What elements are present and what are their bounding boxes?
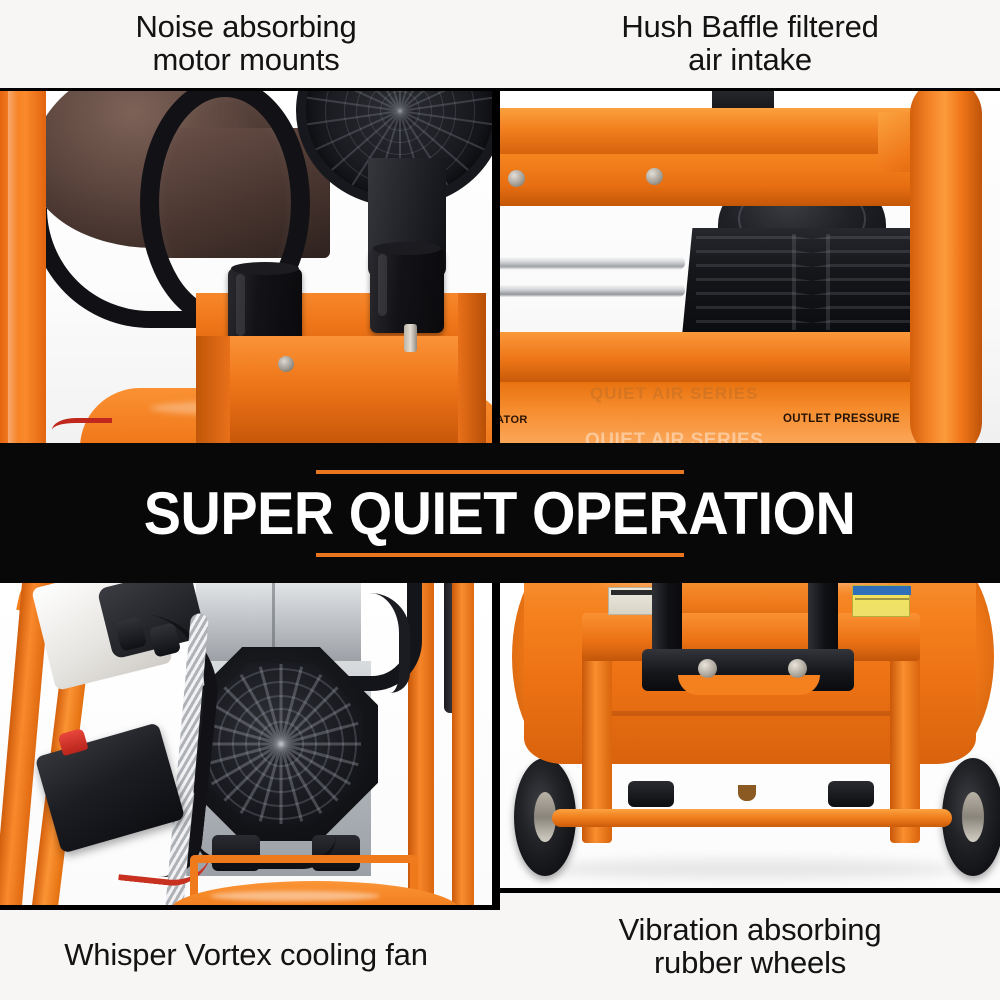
fan-ring [205,668,357,820]
caption-tl-line1: Noise absorbing [135,11,356,44]
bracket-bolt-left [698,659,717,678]
caption-noise-absorbing-motor-mounts: Noise absorbing motor mounts [0,0,492,88]
bracket-bolt [404,324,417,352]
wire-red [52,418,112,443]
hush-baffle-intake-filter [682,228,942,336]
baffle-centre-rib [792,234,796,330]
frame-post-highlight [8,88,18,443]
hose-right-lower [348,593,410,693]
baffle-fin [696,306,928,309]
caption-whisper-vortex-cooling-fan: Whisper Vortex cooling fan [0,910,492,1000]
divider-horizontal-top [0,88,1000,91]
tank-text-series-embossed: QUIET AIR SERIES [590,384,758,404]
handle-bracket-notch [678,675,820,695]
warning-label-right-divider [855,598,909,600]
divider-vertical-top [492,88,500,443]
tank-drain-valve [738,785,756,801]
frame-rail-bottom [500,332,930,382]
rubber-motor-mount-right [370,248,444,333]
tank-text-quiet-air-series: QUIET AIR SERIES [585,430,763,443]
mount-bracket-leg-left [196,336,230,443]
rubber-foot-left [628,781,674,807]
divider-bottom-left-edge [0,905,492,910]
frame-tube-right [910,88,982,443]
caption-hush-baffle-air-intake: Hush Baffle filtered air intake [500,0,1000,88]
whisper-vortex-cooling-fan-photo [0,583,492,910]
tank-text-outlet-pressure: OUTLET PRESSURE [783,413,900,425]
product-feature-collage: Noise absorbing motor mounts Hush Baffle… [0,0,1000,1000]
tank-rail-upper [500,256,685,270]
caption-tr-line2: air intake [688,44,812,77]
super-quiet-operation-banner: SUPER QUIET OPERATION [0,443,1000,583]
ground-shadow [540,859,960,879]
mount-bracket-face [196,336,486,443]
rubber-foot-right [828,781,874,807]
noise-absorbing-motor-mounts-photo [0,88,492,443]
bracket-screw [278,356,294,372]
frame-rail-top-lower [500,154,930,206]
baffle-fin [696,320,928,323]
mount-bracket-leg-right [458,293,486,443]
baffle-fin [696,278,928,281]
hush-baffle-air-intake-photo: QUIET AIR SERIES ATOR OUTLET PRESSURE QU… [500,88,1000,443]
tank-rail-lower [500,284,685,297]
frame-tube-right-outer [452,583,474,910]
baffle-centre-rib [826,234,830,330]
warning-label-right-header [853,586,911,595]
frame-post-left [0,88,46,443]
warning-label-right [852,585,910,617]
caption-tl-line2: motor mounts [152,44,339,77]
frame-rail-top [500,108,930,154]
vibration-absorbing-rubber-wheels-photo [500,583,1000,893]
banner-rule-top [316,470,684,474]
wheel-axle-bar [552,809,952,827]
tank-weld-seam [596,711,912,716]
baffle-fin [696,292,928,295]
frame-screw-right [646,168,663,185]
caption-br-line1: Vibration absorbing [619,914,882,947]
caption-br-line2: rubber wheels [654,947,846,980]
frame-screw-left [508,170,525,187]
banner-rule-bottom [316,553,684,557]
banner-title: SUPER QUIET OPERATION [144,484,856,544]
wheel-hub-right [962,792,984,842]
bracket-bolt-right [788,659,807,678]
baffle-fin [696,236,928,239]
divider-vertical-bottom [492,583,500,910]
baffle-fin [696,264,928,267]
caption-vibration-absorbing-rubber-wheels: Vibration absorbing rubber wheels [500,893,1000,1000]
baffle-fin [696,250,928,253]
tank-text-regulator: ATOR [500,414,528,426]
caption-bl-line1: Whisper Vortex cooling fan [64,939,428,972]
caption-tr-line1: Hush Baffle filtered [621,11,878,44]
divider-bottom-right-edge [500,888,1000,893]
